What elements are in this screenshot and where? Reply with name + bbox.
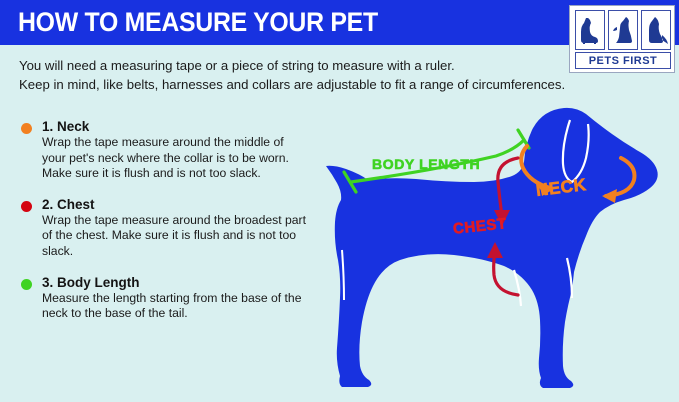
step-title-neck: 1. Neck: [42, 118, 308, 135]
step-item-chest: 2. Chest Wrap the tape measure around th…: [18, 196, 308, 260]
page-title: HOW TO MEASURE YOUR PET: [18, 7, 378, 37]
intro-line-2: Keep in mind, like belts, harnesses and …: [19, 75, 599, 94]
dog-begging-icon: [610, 15, 636, 47]
label-body-length: BODY LENGTH: [372, 156, 480, 172]
logo-box-1: [575, 10, 605, 50]
step-item-neck: 1. Neck Wrap the tape measure around the…: [18, 118, 308, 182]
infographic-page: HOW TO MEASURE YOUR PET PETS FIRST Y: [0, 0, 679, 402]
intro-line-1: You will need a measuring tape or a piec…: [19, 56, 599, 75]
step-title-body-length: 3. Body Length: [42, 274, 308, 291]
dog-sitting-icon: [577, 15, 603, 47]
logo-icon-row: [575, 10, 671, 50]
step-item-body-length: 3. Body Length Measure the length starti…: [18, 274, 308, 322]
step-body-neck: Wrap the tape measure around the middle …: [42, 135, 308, 182]
dog-standing-icon: [643, 15, 669, 47]
steps-list: 1. Neck Wrap the tape measure around the…: [18, 118, 308, 336]
logo-box-3: [641, 10, 671, 50]
step-title-chest: 2. Chest: [42, 196, 308, 213]
logo-box-2: [608, 10, 638, 50]
intro-text: You will need a measuring tape or a piec…: [19, 56, 599, 94]
step-dot-chest: [21, 201, 32, 212]
step-dot-neck: [21, 123, 32, 134]
step-dot-body-length: [21, 279, 32, 290]
dog-silhouette-icon: [326, 108, 658, 388]
step-body-chest: Wrap the tape measure around the broades…: [42, 213, 308, 260]
dog-diagram-svg: [296, 100, 679, 402]
step-body-body-length: Measure the length starting from the bas…: [42, 291, 308, 322]
dog-measurement-diagram: BODY LENGTH NECK CHEST: [296, 100, 679, 402]
